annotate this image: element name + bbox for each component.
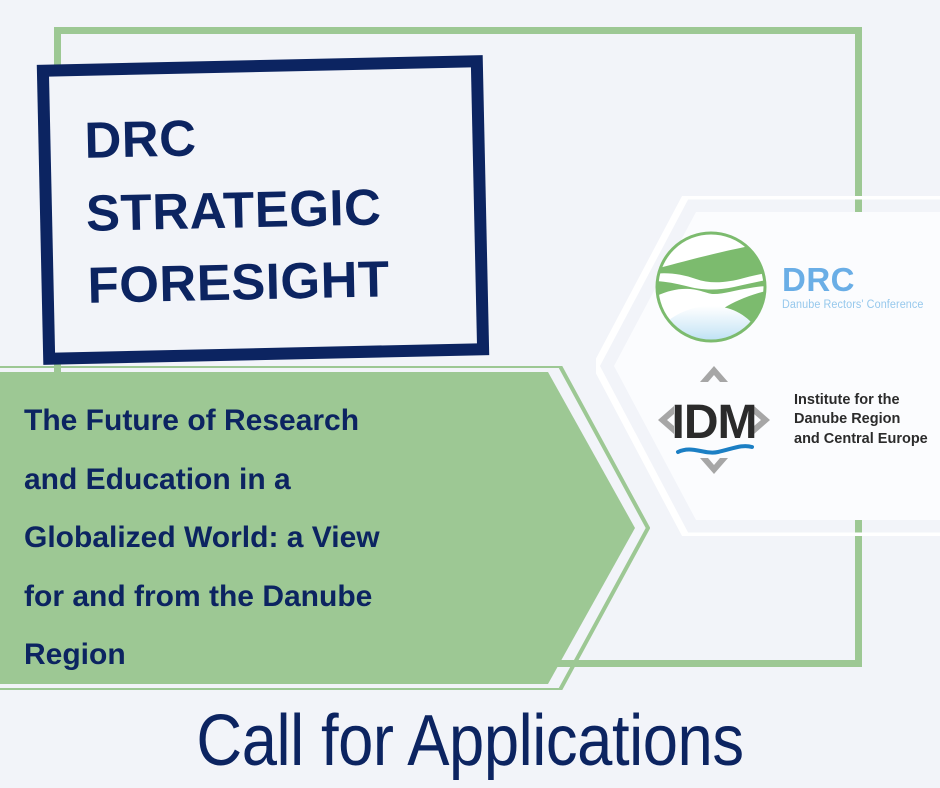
subtitle-line-4: for and from the Danube (24, 568, 544, 627)
drc-wordmark: DRC Danube Rectors' Conference (782, 263, 933, 311)
title-line-2: STRATEGIC (85, 169, 474, 250)
title-line-3: FORESIGHT (87, 242, 476, 323)
drc-river-circle-icon (652, 228, 770, 346)
idm-subtitle-line-2: Danube Region (794, 410, 928, 430)
idm-subtitle: Institute for the Danube Region and Cent… (794, 391, 928, 450)
title-box-inner: DRC STRATEGIC FORESIGHT (49, 67, 477, 352)
poster-canvas: DRC STRATEGIC FORESIGHT The Future of Re… (0, 0, 940, 788)
call-for-applications-headline: Call for Applications (56, 700, 883, 782)
drc-name: DRC (782, 263, 933, 296)
subtitle-text: The Future of Research and Education in … (24, 392, 544, 685)
drc-logo: DRC Danube Rectors' Conference (652, 228, 933, 346)
title-line-1: DRC (84, 97, 473, 178)
title-box: DRC STRATEGIC FORESIGHT (37, 55, 489, 365)
subtitle-line-2: and Education in a (24, 451, 544, 510)
subtitle-line-3: Globalized World: a View (24, 509, 544, 568)
subtitle-line-1: The Future of Research (24, 392, 544, 451)
drc-tagline: Danube Rectors' Conference (782, 299, 924, 311)
idm-subtitle-line-3: and Central Europe (794, 430, 928, 450)
idm-subtitle-line-1: Institute for the (794, 391, 928, 411)
idm-compass-icon: IDM (652, 360, 776, 480)
idm-logo: IDM Institute for the Danube Region and … (652, 360, 928, 480)
subtitle-line-5: Region (24, 626, 544, 685)
svg-text:IDM: IDM (672, 396, 757, 449)
